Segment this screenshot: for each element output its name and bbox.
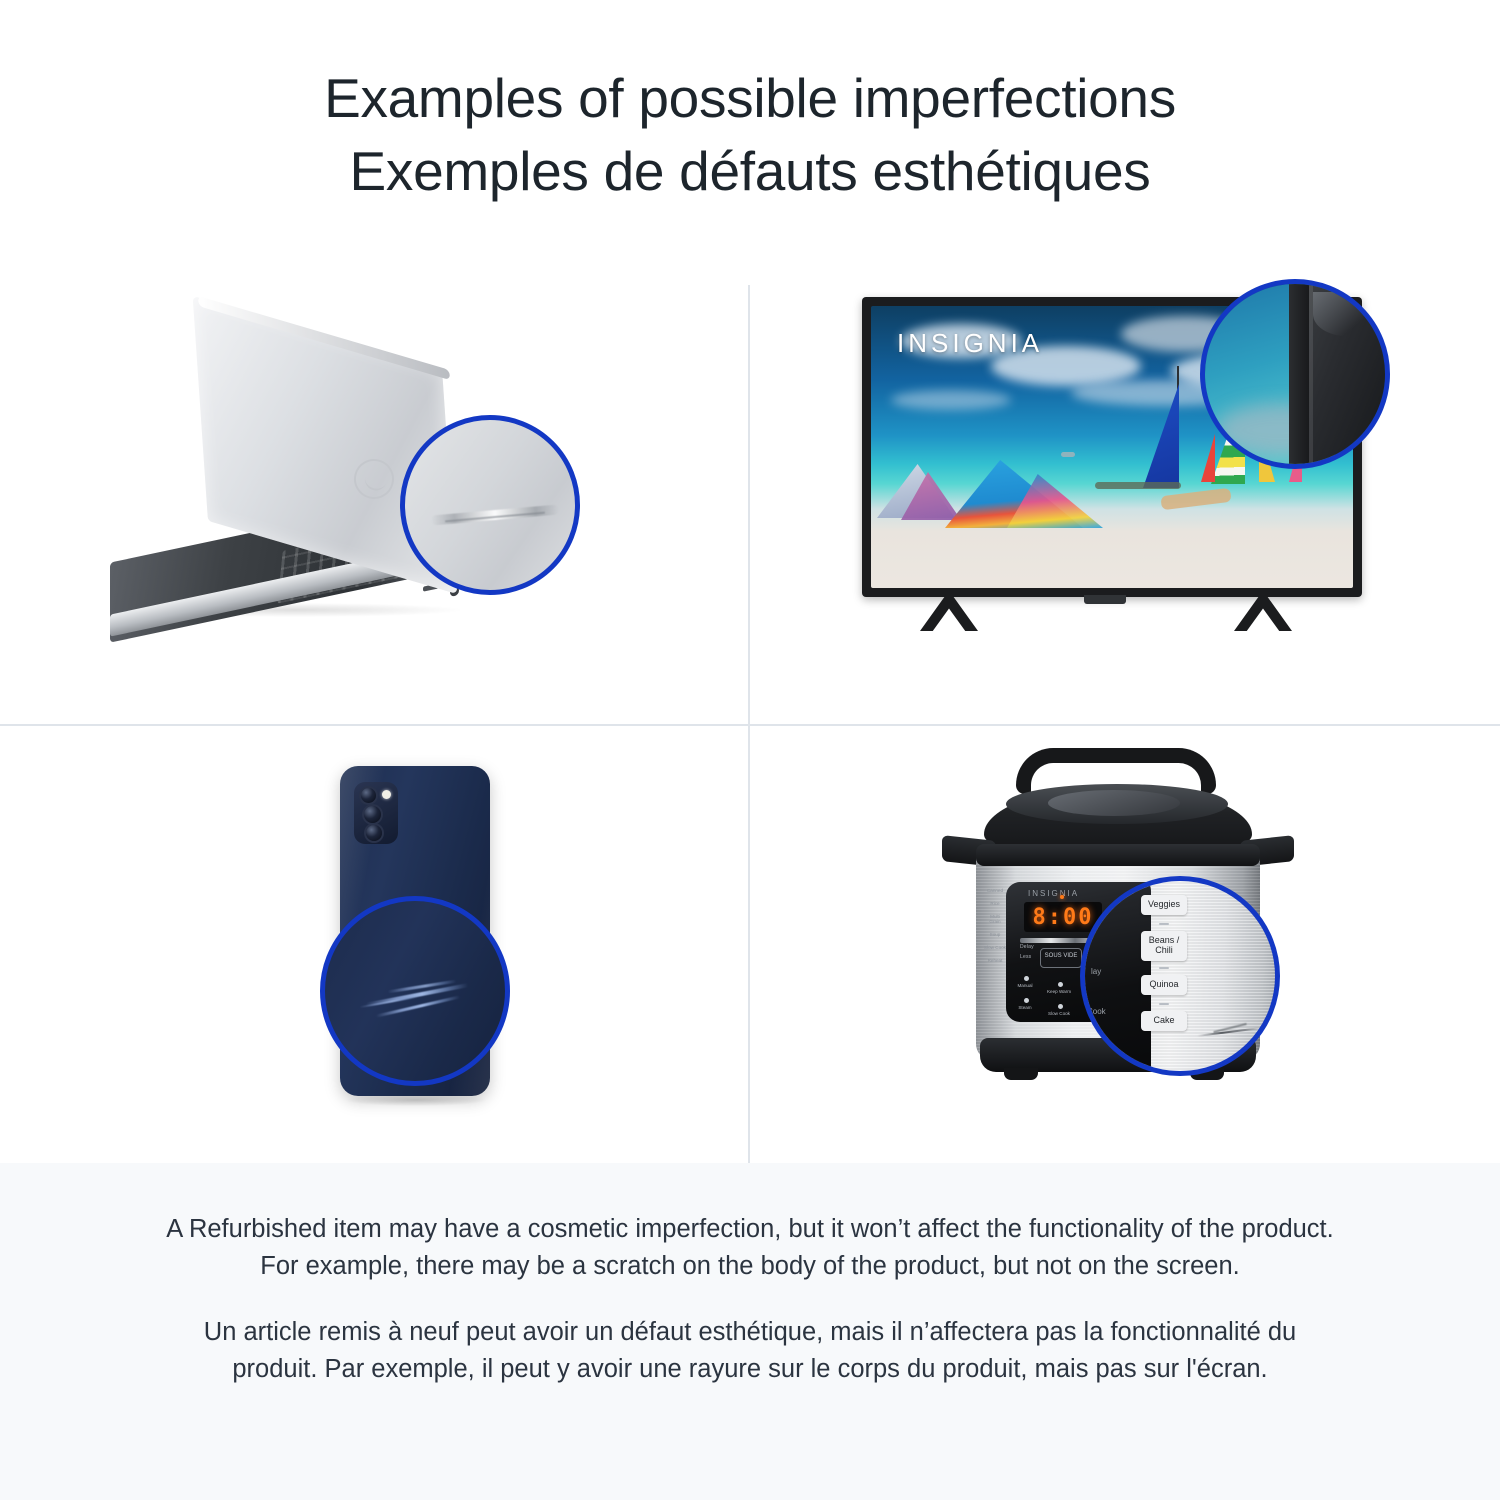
distant-boat: [1061, 452, 1075, 457]
magnifier-circle-cooker: lay Cook Veggies Beans / Chili Quinoa Ca…: [1080, 876, 1280, 1076]
magnified-key-cake[interactable]: Cake: [1141, 1011, 1187, 1031]
example-cell-laptop: [0, 255, 748, 724]
cooker-indicator-led: [1058, 1004, 1063, 1009]
pressure-cooker-illustration: INSIGNIA 8:00 Delay Warm Less More SOUS …: [940, 742, 1300, 1142]
example-cell-phone: [0, 726, 748, 1163]
cooker-left-label-column: Canned Rice Multi Grain Soup Slow Cook R…: [984, 888, 1006, 963]
laptop-illustration: [110, 335, 530, 635]
camera-lens-icon: [361, 788, 376, 803]
magnified-label-delay: lay: [1091, 967, 1101, 976]
cooker-center-button[interactable]: SOUS VIDE: [1040, 948, 1082, 968]
cooker-foot-left: [1004, 1068, 1038, 1080]
refurbished-imperfections-page: Examples of possible imperfections Exemp…: [0, 0, 1500, 1500]
cooker-left-label: Slow Cook: [984, 945, 1006, 950]
cooker-indicator-led: [1058, 982, 1063, 987]
tv-stand-left: [920, 597, 978, 631]
footer-text-english: A Refurbished item may have a cosmetic i…: [165, 1211, 1335, 1284]
camera-flash-icon: [382, 790, 391, 799]
phone-illustration: [300, 766, 530, 1116]
magnified-key-divider: [1159, 1003, 1169, 1005]
cooker-lid-vent: [1048, 790, 1180, 816]
product-example-grid: INSIGNIA: [0, 255, 1500, 1163]
cooker-bar-label-less: Less: [1020, 954, 1031, 960]
cooker-button-slow-cook[interactable]: Slow Cook: [1046, 1011, 1072, 1016]
cooker-left-label: Multi Grain: [984, 914, 1006, 924]
cooker-center-button-label: SOUS VIDE: [1041, 953, 1081, 960]
tv-stand-right: [1234, 597, 1292, 631]
cooker-indicator-led: [1024, 976, 1029, 981]
magnified-key-beans-chili[interactable]: Beans / Chili: [1141, 931, 1187, 961]
cooker-status-led: [1060, 895, 1064, 899]
cooker-brand-label: INSIGNIA: [1028, 889, 1079, 898]
title-english: Examples of possible imperfections: [324, 67, 1176, 129]
cooker-left-label: Canned: [984, 888, 1006, 893]
cooker-button-manual[interactable]: Manual: [1012, 983, 1038, 988]
cooker-button-steam[interactable]: Steam: [1012, 1005, 1038, 1010]
magnified-label-slow-cook: Cook: [1087, 1007, 1106, 1016]
cooker-left-label: Reheat: [984, 958, 1006, 963]
magnified-bezel: [1289, 279, 1311, 469]
cloud: [891, 390, 1011, 410]
magnifier-circle-tv: [1200, 279, 1390, 469]
title-french: Exemples de défauts esthétiques: [0, 135, 1500, 208]
cooker-indicator-led: [1024, 998, 1029, 1003]
beach-gear: [1095, 482, 1181, 489]
camera-lens-icon: [366, 825, 382, 841]
magnified-key-veggies[interactable]: Veggies: [1141, 895, 1187, 915]
magnified-key-divider: [1159, 923, 1169, 925]
magnified-key-divider: [1159, 967, 1169, 969]
insignia-screen-logo: INSIGNIA: [897, 328, 1043, 359]
cooker-button-keep-warm[interactable]: Keep Warm: [1046, 989, 1072, 994]
beach-gear: [1160, 488, 1231, 510]
page-footer: A Refurbished item may have a cosmetic i…: [0, 1163, 1500, 1500]
tv-logo-nub: [1084, 595, 1126, 604]
camera-module: [354, 782, 398, 844]
cooker-left-label: Rice: [984, 901, 1006, 906]
scuff-mark: [1313, 292, 1379, 336]
magnifier-circle-laptop: [400, 415, 580, 595]
page-header: Examples of possible imperfections Exemp…: [0, 0, 1500, 207]
page-title: Examples of possible imperfections Exemp…: [0, 62, 1500, 207]
cooker-collar: [976, 844, 1260, 866]
magnified-key-quinoa[interactable]: Quinoa: [1141, 975, 1187, 995]
example-cell-tv: INSIGNIA: [750, 255, 1500, 724]
example-cell-pressure-cooker: INSIGNIA 8:00 Delay Warm Less More SOUS …: [750, 726, 1500, 1163]
magnifier-circle-phone: [320, 896, 510, 1086]
cooker-left-label: Soup: [984, 932, 1006, 937]
footer-text-french: Un article remis à neuf peut avoir un dé…: [165, 1314, 1335, 1387]
cooker-bar-label-delay: Delay: [1020, 944, 1034, 950]
camera-lens-icon: [364, 806, 381, 823]
tv-illustration: INSIGNIA: [862, 297, 1382, 667]
